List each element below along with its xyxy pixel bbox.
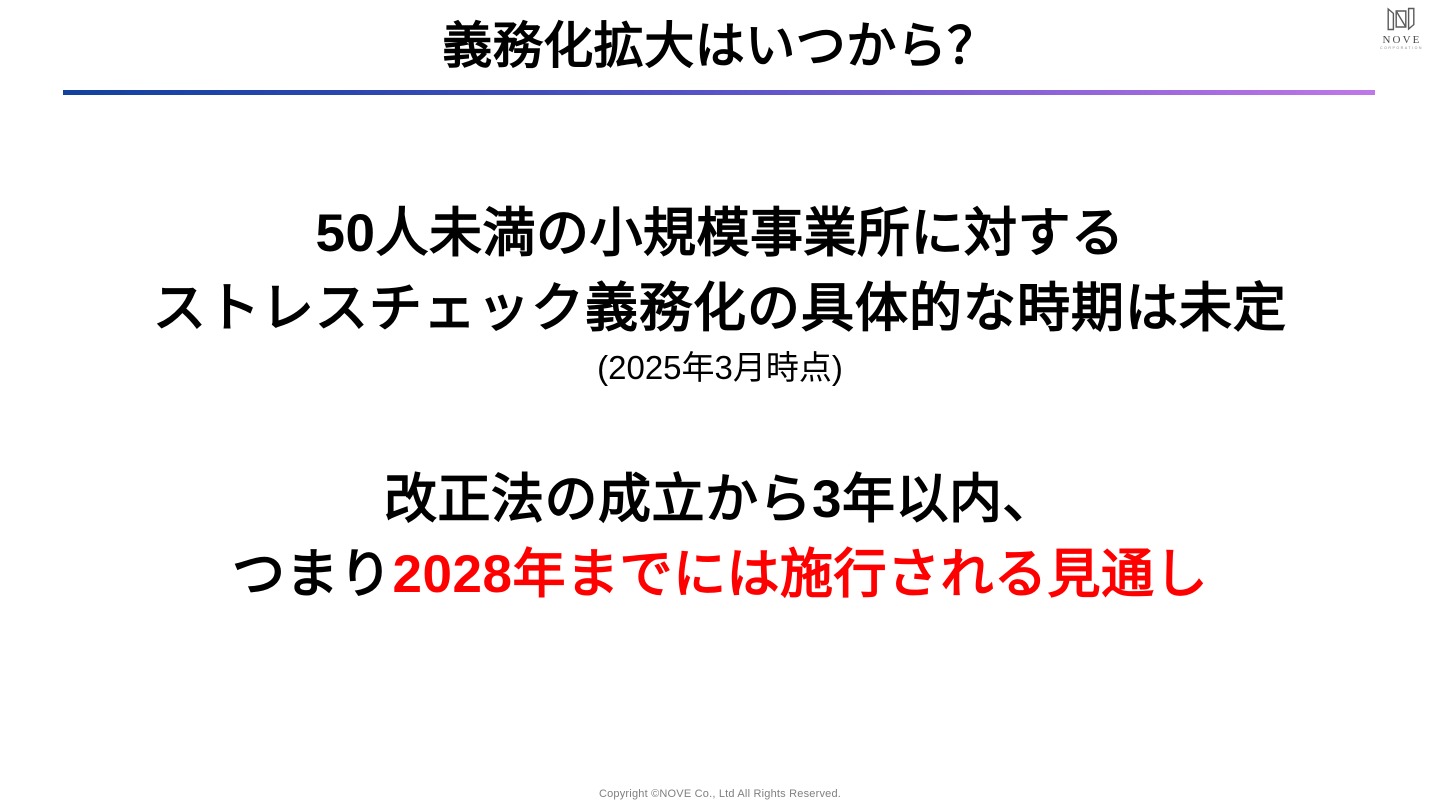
copyright-footer: Copyright ©NOVE Co., Ltd All Rights Rese…	[0, 786, 1440, 802]
upper-line-2: ストレスチェック義務化の具体的な時期は未定	[0, 271, 1440, 346]
slide-canvas: NOVE CORPORATION 義務化拡大はいつから？ 50人未満の小規模事業…	[0, 0, 1440, 810]
lower-line-2-plain: つまり	[232, 545, 393, 604]
title-divider-rule	[63, 90, 1375, 95]
upper-line-1: 50人未満の小規模事業所に対する	[0, 196, 1440, 271]
lower-text-block: 改正法の成立から3年以内、 つまり2028年までには施行される見通し	[0, 462, 1440, 612]
upper-text-block: 50人未満の小規模事業所に対する ストレスチェック義務化の具体的な時期は未定 (…	[0, 196, 1440, 390]
slide-title: 義務化拡大はいつから？	[0, 14, 1440, 78]
lower-line-2-highlight: 2028年までには施行される見通し	[393, 545, 1208, 604]
lower-line-1: 改正法の成立から3年以内、	[0, 462, 1440, 537]
lower-line-2: つまり2028年までには施行される見通し	[0, 537, 1440, 612]
upper-note: (2025年3月時点)	[0, 346, 1440, 390]
